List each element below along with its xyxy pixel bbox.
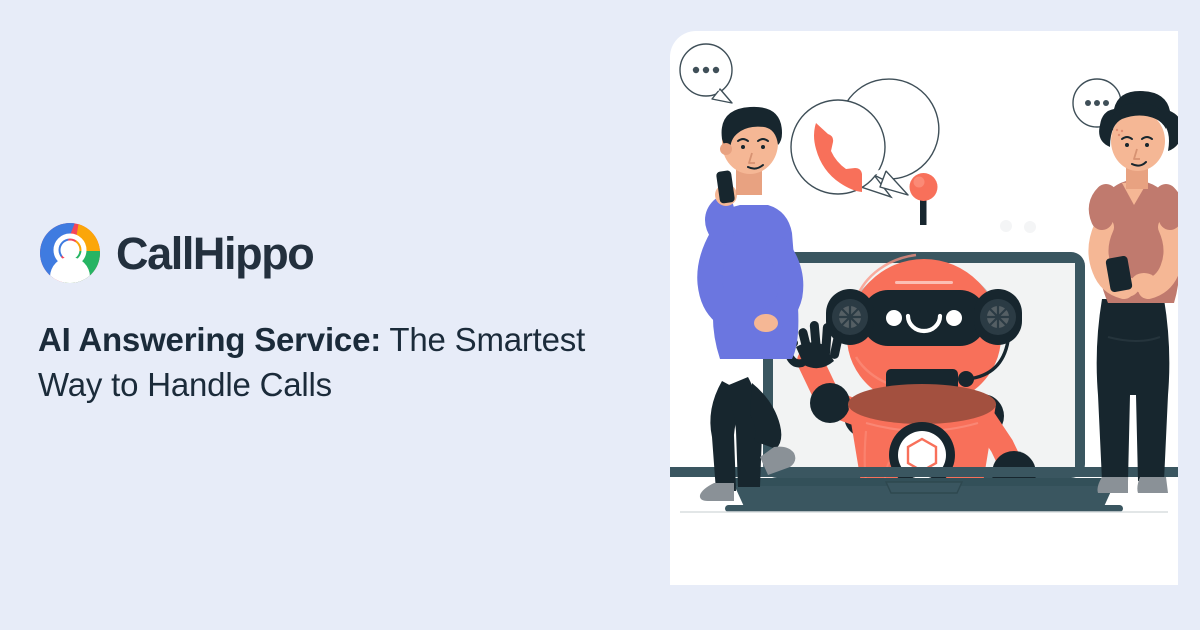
robot-ear-right: [974, 289, 1022, 345]
illustration-svg: [670, 31, 1178, 585]
brand-name: CallHippo: [116, 231, 313, 276]
ellipsis-dots-icon: [693, 67, 719, 73]
floating-dots-icon: [1000, 220, 1036, 233]
illustration-card: [670, 31, 1178, 585]
page-title-bold: AI Answering Service:: [38, 321, 381, 358]
man-chat-bubble: [680, 44, 732, 103]
callhippo-logo-icon: [38, 221, 102, 285]
woman-with-phone-figure: [1073, 79, 1178, 493]
robot-ear-left: [826, 289, 874, 345]
man-on-phone-figure: [680, 44, 798, 501]
robot-eye-right: [946, 310, 962, 326]
left-content-panel: CallHippo AI Answering Service: The Smar…: [38, 214, 638, 407]
woman-hand-right: [1131, 273, 1157, 293]
robot-eye-left: [886, 310, 902, 326]
antenna-icon: [910, 173, 938, 225]
woman-shoe-right: [1137, 477, 1168, 493]
page-title: AI Answering Service: The Smartest Way t…: [38, 317, 628, 407]
robot-elbow-left: [810, 383, 850, 423]
shoe-left: [700, 483, 734, 501]
robot-visor: [862, 290, 986, 346]
woman-trousers: [1097, 299, 1170, 481]
laptop-base: [725, 478, 1123, 512]
brand-lockup: CallHippo: [38, 214, 638, 292]
og-image-canvas: CallHippo AI Answering Service: The Smar…: [0, 0, 1200, 630]
ellipsis-dots-icon: [1085, 100, 1109, 106]
woman-shoe-left: [1098, 477, 1129, 493]
